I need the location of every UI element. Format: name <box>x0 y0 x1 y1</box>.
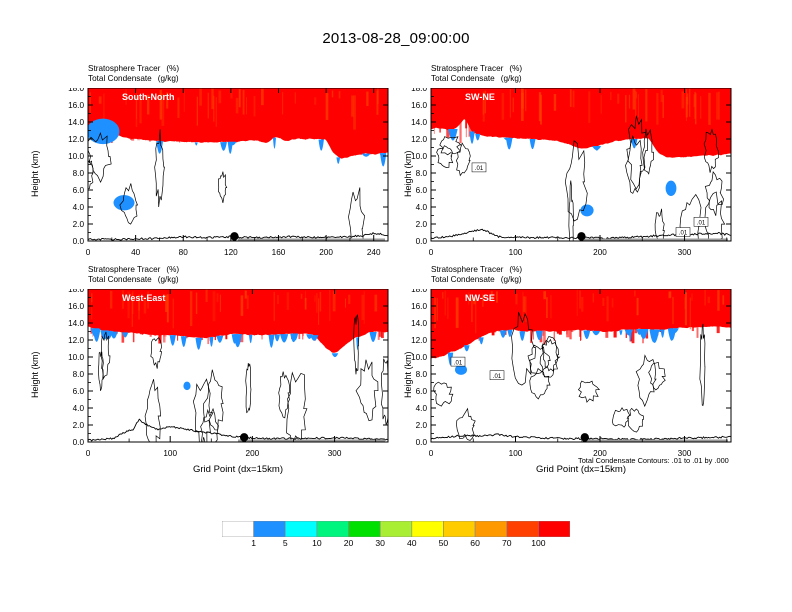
header-condensate-name: Total Condensate <box>88 74 152 83</box>
colorbar-tick-label: 60 <box>470 538 480 548</box>
colorbar-tick-label: 10 <box>312 538 322 548</box>
y-tick-label: 14.0 <box>68 319 84 328</box>
colorbar-tick-label: 40 <box>407 538 417 548</box>
y-tick-label: 0.0 <box>73 237 85 246</box>
y-tick-label: 18.0 <box>68 88 84 93</box>
y-tick-label: 16.0 <box>68 302 84 311</box>
svg-text:.01: .01 <box>697 221 706 227</box>
y-tick-label: 18.0 <box>68 289 84 294</box>
x-tick-label: 0 <box>86 449 91 458</box>
panel-header-sw-ne: Stratosphere Tracer(%)Total Condensate(g… <box>431 64 522 84</box>
y-axis-label: Height (km) <box>30 351 40 398</box>
header-condensate-line: Total Condensate(g/kg) <box>88 275 179 285</box>
y-tick-label: 6.0 <box>73 186 85 195</box>
x-tick-label: 80 <box>179 248 189 257</box>
colorbar-cell <box>349 521 381 537</box>
x-tick-label: 300 <box>678 248 692 257</box>
x-tick-label: 120 <box>224 248 238 257</box>
svg-text:.01: .01 <box>493 374 502 380</box>
header-condensate-unit: (g/kg) <box>158 74 179 83</box>
station-marker <box>230 232 238 244</box>
y-tick-label: 4.0 <box>416 203 428 212</box>
colorbar-tick-label: 70 <box>502 538 512 548</box>
x-tick-label: 200 <box>593 248 607 257</box>
header-tracer-line: Stratosphere Tracer(%) <box>431 64 522 74</box>
colorbar-cell <box>475 521 507 537</box>
y-tick-label: 14.0 <box>68 118 84 127</box>
colorbar-tick-label: 30 <box>375 538 385 548</box>
colorbar-cell <box>222 521 254 537</box>
header-tracer-line: Stratosphere Tracer(%) <box>88 265 179 275</box>
y-tick-label: 14.0 <box>411 319 427 328</box>
colorbar-cell <box>507 521 539 537</box>
y-tick-label: 14.0 <box>411 118 427 127</box>
svg-text:.01: .01 <box>454 360 463 366</box>
colorbar-cell <box>254 521 286 537</box>
header-tracer-unit: (%) <box>509 265 522 274</box>
y-tick-label: 0.0 <box>416 237 428 246</box>
y-tick-label: 6.0 <box>73 387 85 396</box>
svg-text:.01: .01 <box>475 166 484 172</box>
y-tick-label: 10.0 <box>411 152 427 161</box>
panel-plot-south-north: 0.02.04.06.08.010.012.014.016.018.004080… <box>58 88 402 267</box>
header-condensate-line: Total Condensate(g/kg) <box>431 275 522 285</box>
header-tracer-name: Stratosphere Tracer <box>88 265 160 274</box>
y-tick-label: 2.0 <box>416 220 428 229</box>
x-tick-label: 240 <box>367 248 381 257</box>
x-tick-label: 100 <box>509 449 523 458</box>
y-axis-label: Height (km) <box>30 150 40 197</box>
y-tick-label: 8.0 <box>416 169 428 178</box>
station-marker <box>577 232 585 244</box>
y-tick-label: 12.0 <box>411 135 427 144</box>
header-condensate-unit: (g/kg) <box>158 275 179 284</box>
x-tick-label: 300 <box>328 449 342 458</box>
panel-header-nw-se: Stratosphere Tracer(%)Total Condensate(g… <box>431 265 522 285</box>
x-tick-label: 100 <box>509 248 523 257</box>
colorbar-cell <box>412 521 444 537</box>
header-condensate-name: Total Condensate <box>431 275 495 284</box>
station-marker <box>581 433 589 445</box>
y-tick-label: 12.0 <box>68 135 84 144</box>
panel-plot-west-east: 0.02.04.06.08.010.012.014.016.018.001002… <box>58 289 402 468</box>
x-tick-label: 0 <box>429 449 434 458</box>
y-tick-label: 2.0 <box>73 421 85 430</box>
y-tick-label: 2.0 <box>416 421 428 430</box>
x-tick-label: 0 <box>429 248 434 257</box>
x-tick-label: 0 <box>86 248 91 257</box>
y-tick-label: 4.0 <box>73 404 85 413</box>
x-tick-label: 200 <box>246 449 260 458</box>
y-tick-label: 0.0 <box>416 438 428 447</box>
header-condensate-unit: (g/kg) <box>501 74 522 83</box>
x-tick-label: 40 <box>131 248 141 257</box>
x-tick-label: 100 <box>163 449 177 458</box>
colorbar-tick-label: 100 <box>531 538 545 548</box>
svg-text:.01: .01 <box>679 231 688 237</box>
header-condensate-line: Total Condensate(g/kg) <box>431 74 522 84</box>
colorbar-tick-label: 50 <box>439 538 449 548</box>
y-tick-label: 0.0 <box>73 438 85 447</box>
colorbar-tick-labels: 1510203040506070100 <box>222 538 570 552</box>
panel-header-west-east: Stratosphere Tracer(%)Total Condensate(g… <box>88 265 179 285</box>
colorbar-cell <box>443 521 475 537</box>
header-condensate-line: Total Condensate(g/kg) <box>88 74 179 84</box>
y-tick-label: 12.0 <box>68 336 84 345</box>
panel-header-south-north: Stratosphere Tracer(%)Total Condensate(g… <box>88 64 179 84</box>
y-tick-label: 18.0 <box>411 88 427 93</box>
header-tracer-unit: (%) <box>509 64 522 73</box>
y-tick-label: 16.0 <box>68 101 84 110</box>
colorbar-cell <box>285 521 317 537</box>
header-tracer-line: Stratosphere Tracer(%) <box>88 64 179 74</box>
header-condensate-unit: (g/kg) <box>501 275 522 284</box>
y-tick-label: 12.0 <box>411 336 427 345</box>
figure-title: 2013-08-28_09:00:00 <box>0 30 792 47</box>
x-tick-label: 200 <box>319 248 333 257</box>
panel-plot-nw-se: .01.010.02.04.06.08.010.012.014.016.018.… <box>401 289 745 468</box>
y-tick-label: 4.0 <box>416 404 428 413</box>
y-tick-label: 10.0 <box>68 152 84 161</box>
y-tick-label: 18.0 <box>411 289 427 294</box>
colorbar-tick-label: 20 <box>344 538 354 548</box>
colorbar-tick-label: 1 <box>251 538 256 548</box>
y-tick-label: 6.0 <box>416 186 428 195</box>
colorbar-cell <box>317 521 349 537</box>
y-tick-label: 4.0 <box>73 203 85 212</box>
header-tracer-unit: (%) <box>166 64 179 73</box>
header-tracer-name: Stratosphere Tracer <box>431 265 503 274</box>
panel-plot-sw-ne: .01.01.010.02.04.06.08.010.012.014.016.0… <box>401 88 745 267</box>
colorbar-cell <box>380 521 412 537</box>
y-tick-label: 16.0 <box>411 302 427 311</box>
station-marker <box>240 433 248 445</box>
y-tick-label: 8.0 <box>73 370 85 379</box>
header-tracer-unit: (%) <box>166 265 179 274</box>
colorbar-cell <box>538 521 570 537</box>
colorbar <box>222 521 570 537</box>
header-condensate-name: Total Condensate <box>88 275 152 284</box>
header-tracer-name: Stratosphere Tracer <box>431 64 503 73</box>
header-condensate-name: Total Condensate <box>431 74 495 83</box>
y-tick-label: 16.0 <box>411 101 427 110</box>
y-tick-label: 10.0 <box>68 353 84 362</box>
x-tick-label: 160 <box>272 248 286 257</box>
figure-canvas: 2013-08-28_09:00:00 Stratosphere Tracer(… <box>0 0 792 612</box>
y-tick-label: 2.0 <box>73 220 85 229</box>
header-tracer-name: Stratosphere Tracer <box>88 64 160 73</box>
colorbar-swatches <box>222 521 570 537</box>
y-tick-label: 10.0 <box>411 353 427 362</box>
header-tracer-line: Stratosphere Tracer(%) <box>431 265 522 275</box>
y-tick-label: 6.0 <box>416 387 428 396</box>
contour-note: Total Condensate Contours: .01 to .01 by… <box>578 456 729 465</box>
colorbar-tick-label: 5 <box>283 538 288 548</box>
y-tick-label: 8.0 <box>416 370 428 379</box>
y-tick-label: 8.0 <box>73 169 85 178</box>
